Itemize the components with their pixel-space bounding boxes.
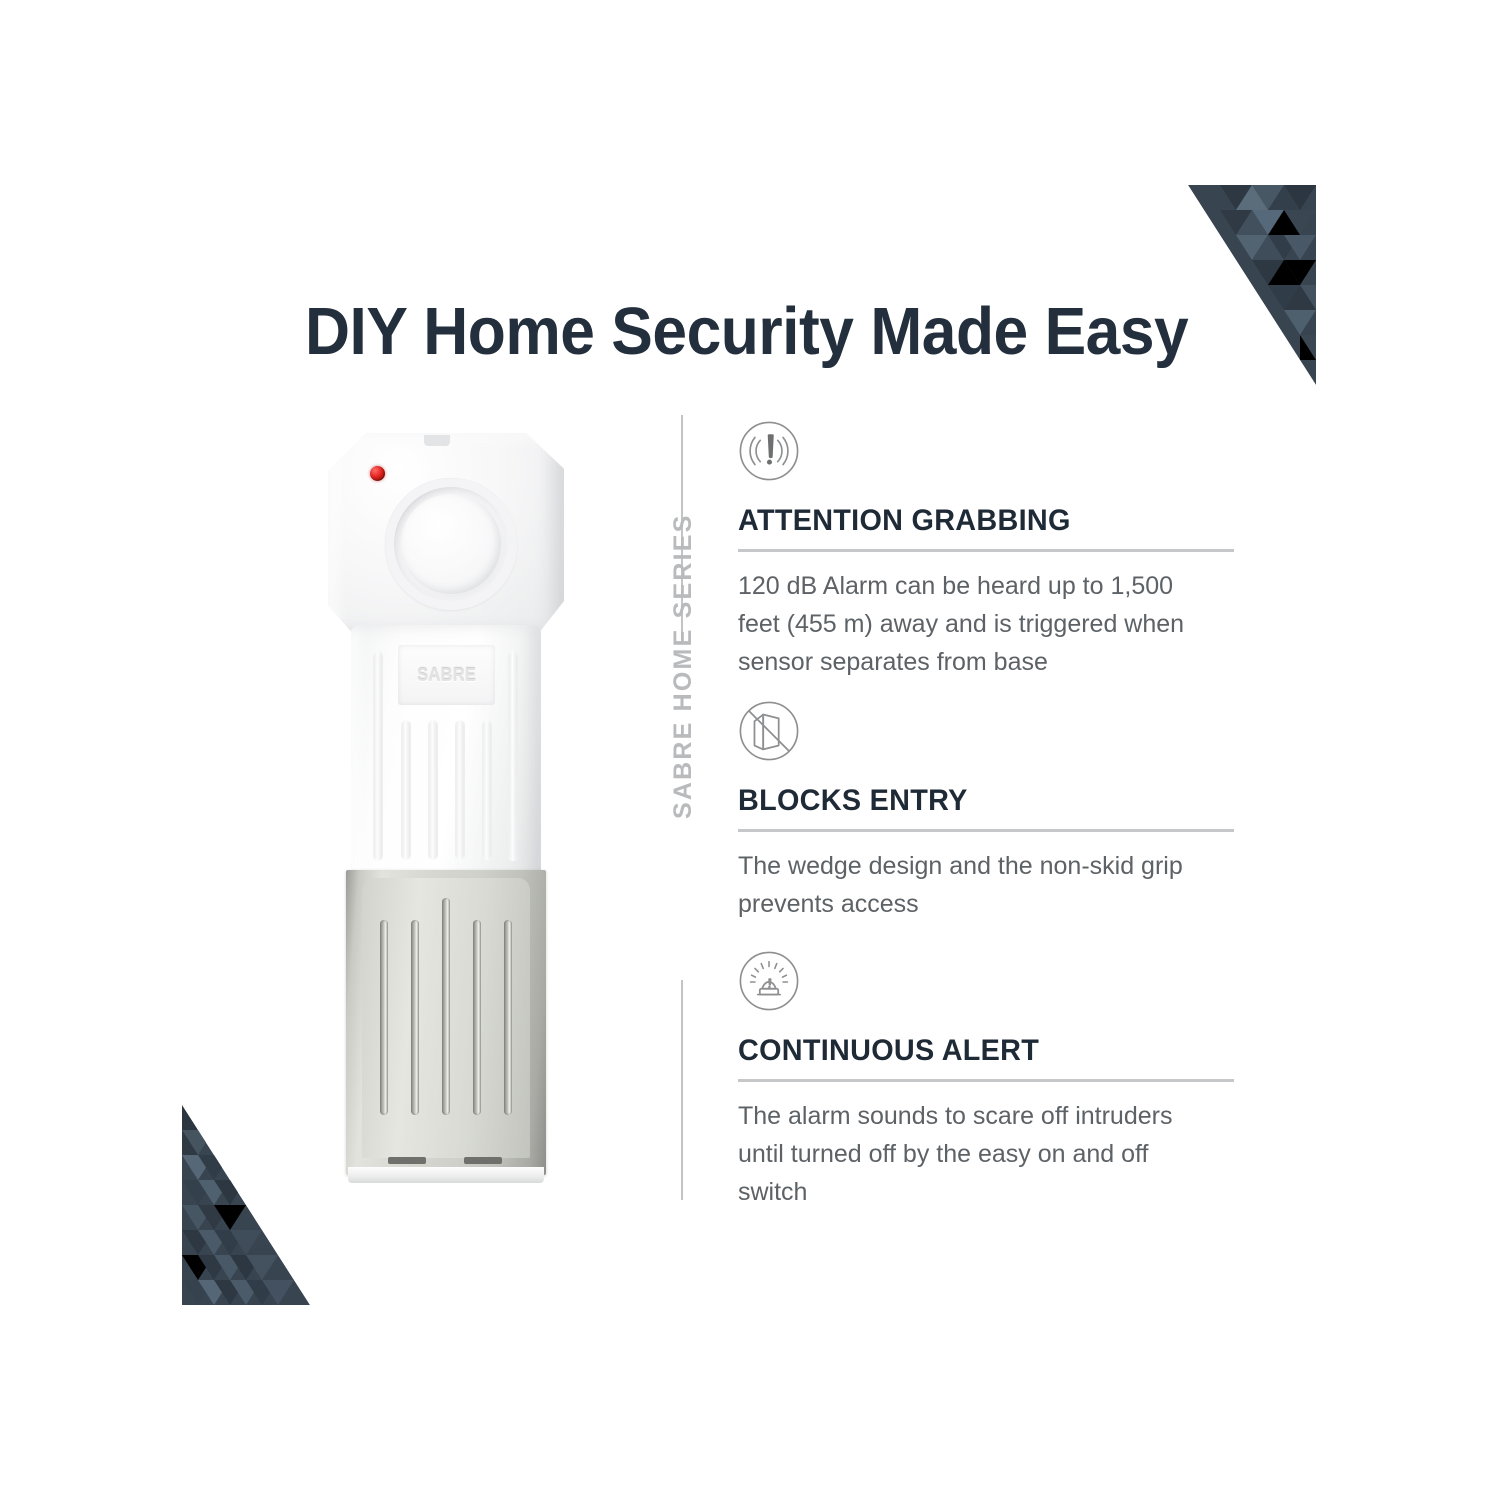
wedge-slot	[442, 898, 450, 1115]
decorative-triangle-bottom-left	[182, 1105, 310, 1305]
body-rib	[455, 720, 465, 860]
rail-line-bottom	[681, 980, 683, 1200]
wedge-foot-notch	[388, 1157, 426, 1164]
feature-title: ATTENTION GRABBING	[738, 504, 1218, 538]
triangle-mosaic-pattern	[1188, 185, 1316, 385]
feature-description: 120 dB Alarm can be heard up to 1,500 fe…	[738, 567, 1208, 681]
siren-beacon-icon	[738, 950, 800, 1012]
infographic-page: DIY Home Security Made Easy SABRE	[0, 0, 1500, 1500]
feature-divider	[738, 549, 1234, 552]
body-rib	[373, 651, 383, 861]
brand-logo-plate: SABRE	[398, 645, 495, 705]
decorative-triangle-top-right	[1188, 185, 1316, 385]
feature-description: The alarm sounds to scare off intruders …	[738, 1097, 1208, 1211]
body-rib	[428, 720, 438, 860]
feature-title: CONTINUOUS ALERT	[738, 1034, 1218, 1068]
feature-description: The wedge design and the non-skid grip p…	[738, 847, 1208, 923]
brand-logo-text: SABRE	[417, 665, 476, 686]
product-body: SABRE	[351, 625, 541, 885]
wedge-inner-panel	[362, 878, 530, 1158]
alarm-housing	[328, 433, 564, 643]
feature-item: ATTENTION GRABBING 120 dB Alarm can be h…	[738, 420, 1238, 681]
speaker-ring	[385, 478, 517, 610]
wedge-slot	[411, 920, 419, 1115]
blocked-door-icon	[738, 700, 800, 762]
feature-title: BLOCKS ENTRY	[738, 784, 1218, 818]
wedge-foot-notch	[464, 1157, 502, 1164]
feature-item: BLOCKS ENTRY The wedge design and the no…	[738, 700, 1238, 923]
wedge-slot	[473, 920, 481, 1115]
feature-item: CONTINUOUS ALERT The alarm sounds to sca…	[738, 950, 1238, 1211]
product-image: SABRE	[318, 425, 608, 1200]
feature-divider	[738, 829, 1234, 832]
feature-divider	[738, 1079, 1234, 1082]
body-rib	[482, 720, 492, 860]
body-rib	[508, 651, 518, 861]
product-base-lip	[348, 1167, 544, 1183]
wedge-slot	[380, 920, 388, 1115]
wedge-slot	[504, 920, 512, 1115]
speaker-dome	[401, 494, 501, 594]
page-title: DIY Home Security Made Easy	[305, 292, 1170, 372]
body-rib	[401, 720, 411, 860]
triangle-mosaic-pattern	[182, 1105, 310, 1305]
led-indicator	[370, 466, 385, 481]
series-label: SABRE HOME SERIES	[669, 534, 698, 819]
series-rail: SABRE HOME SERIES	[681, 415, 683, 1200]
housing-notch	[424, 435, 450, 446]
metal-wedge-plate	[346, 870, 546, 1175]
alert-exclamation-sound-icon	[738, 420, 800, 482]
